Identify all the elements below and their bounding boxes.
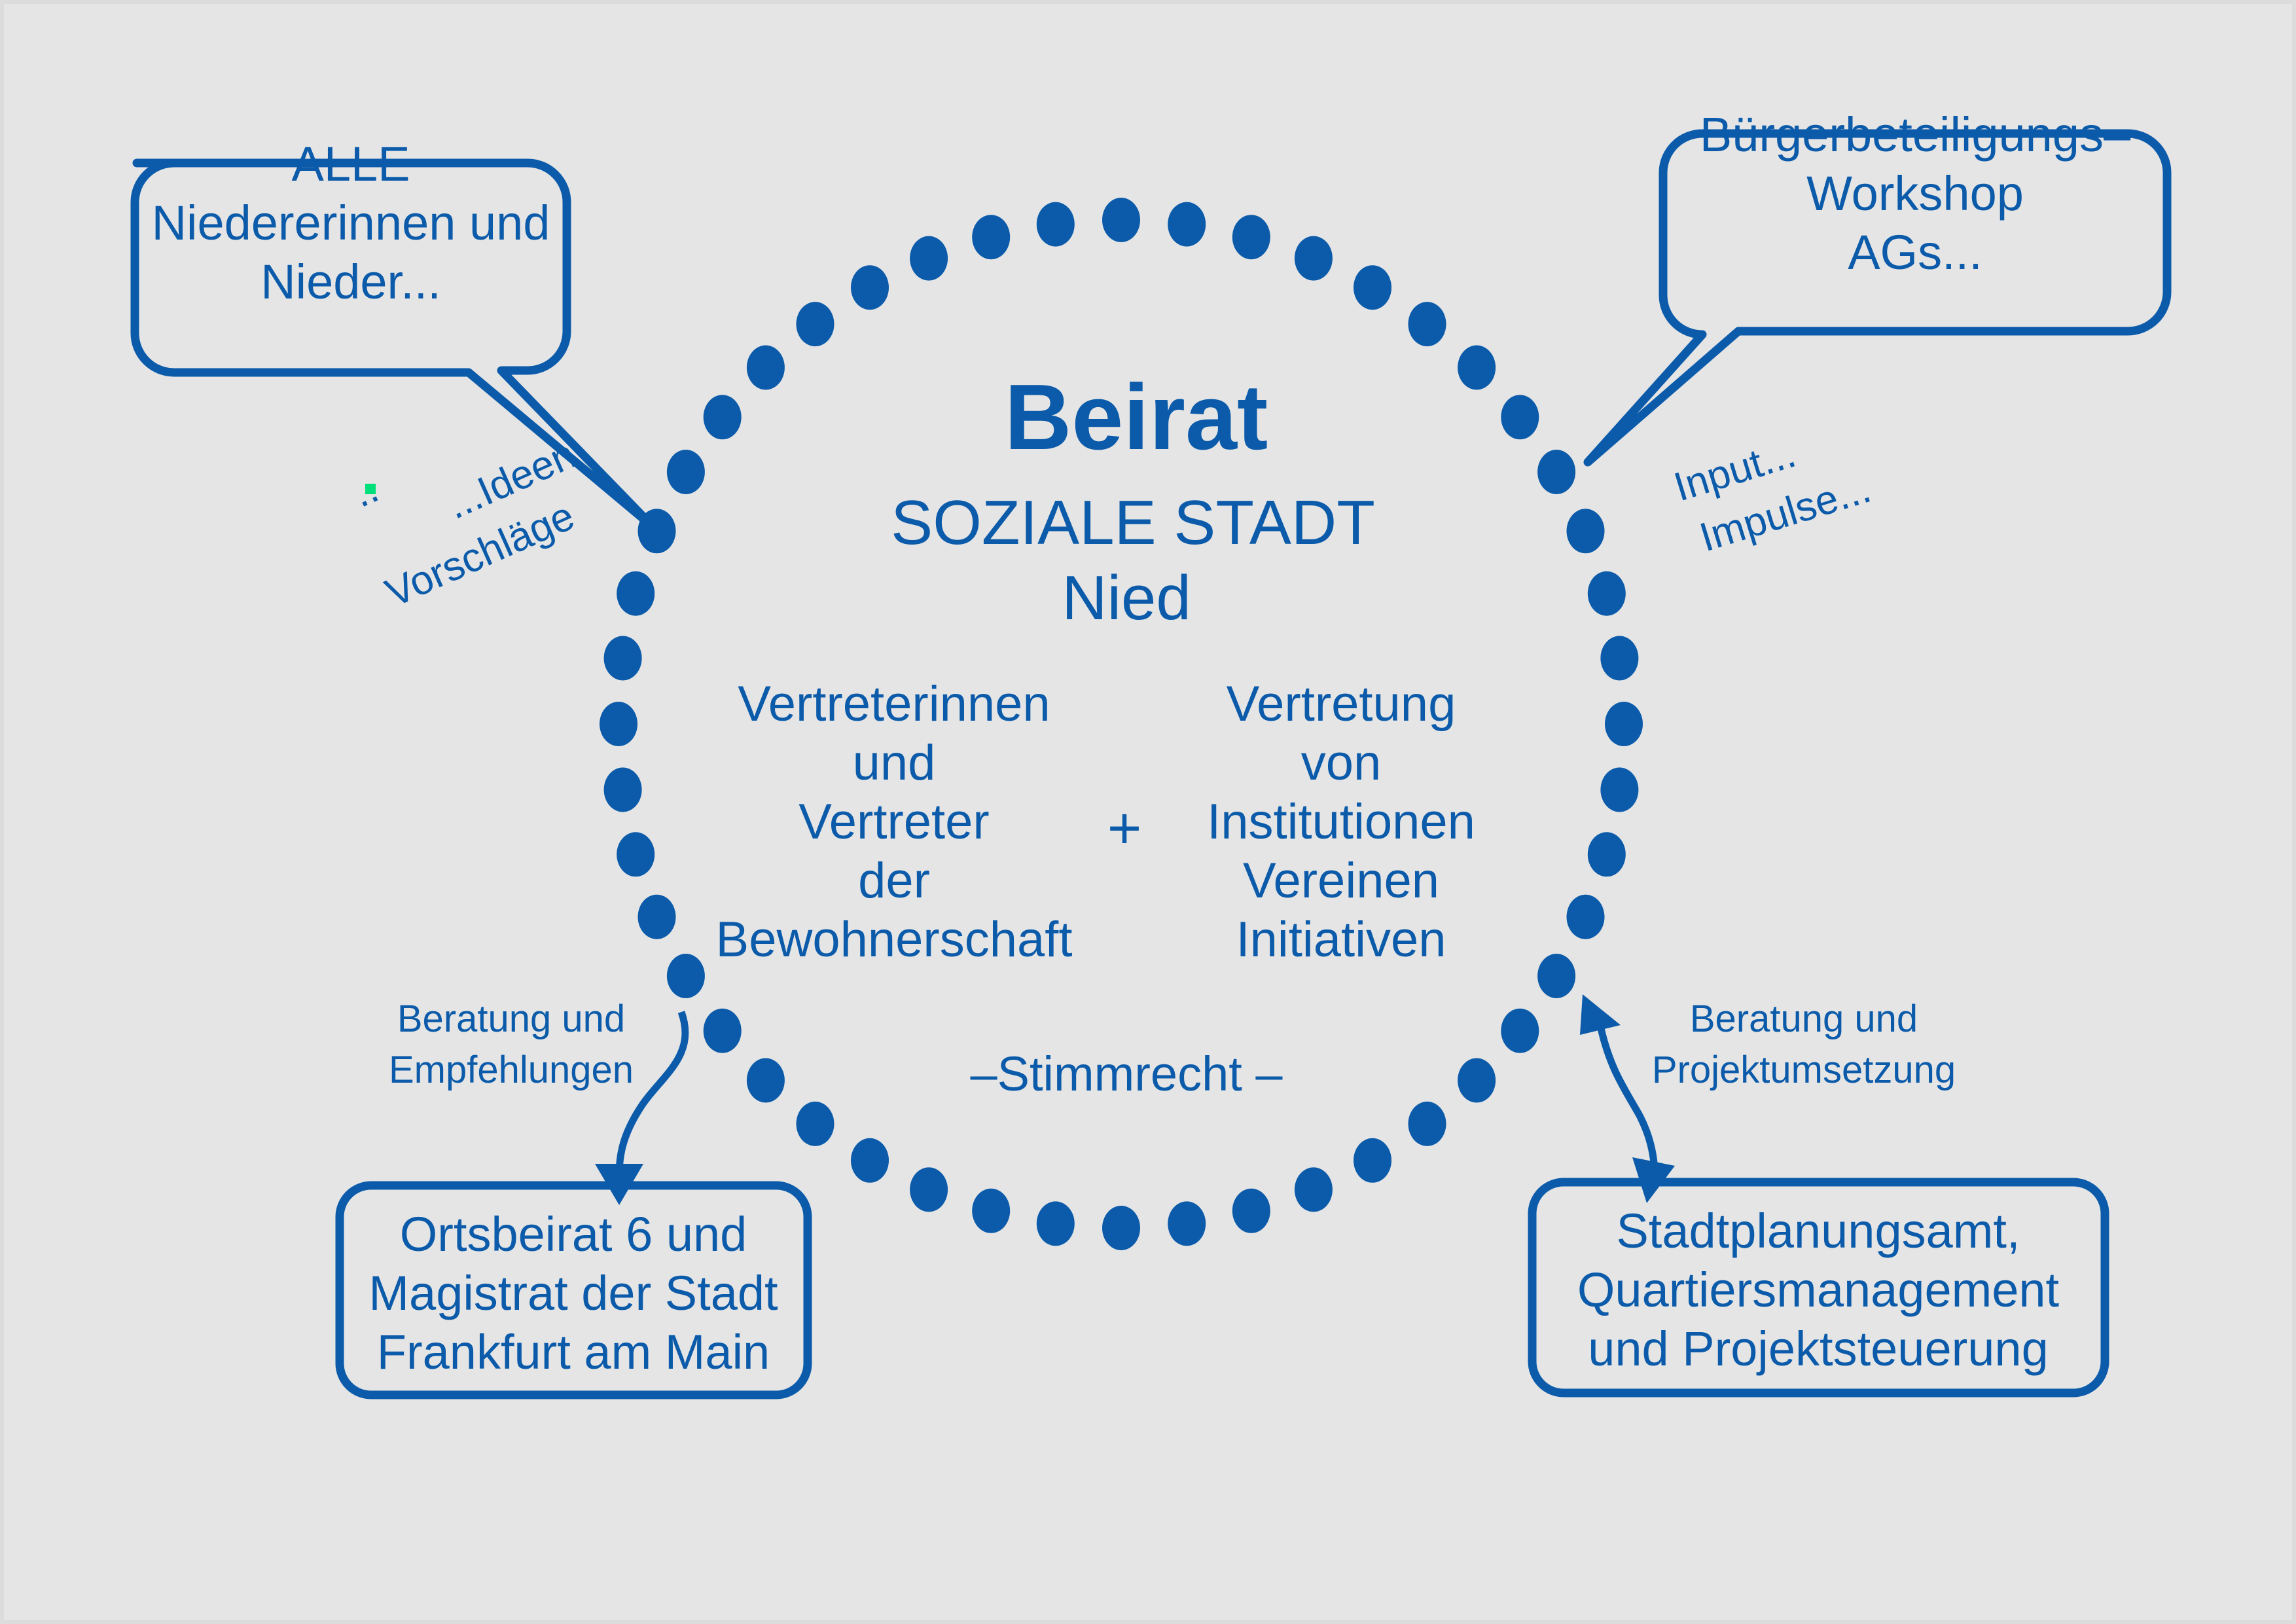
ring-dot	[1102, 1206, 1140, 1250]
ring-dot	[1588, 832, 1626, 876]
bubble-top-left-line3: Nieder...	[260, 255, 441, 309]
ring-dot	[972, 215, 1010, 259]
annotation-left-ellipsis: ..	[346, 466, 386, 516]
ring-dot	[667, 954, 705, 998]
ring-dot	[910, 1167, 948, 1212]
box-ortsbeirat-line2: Magistrat der Stadt	[368, 1266, 778, 1320]
annotation-bottom-right-line2: Projektumsetzung	[1652, 1049, 1956, 1091]
left-column-line4: der	[858, 853, 930, 909]
speech-bubble-top-right[interactable]: Bürgerbeteiligungs– Workshop AGs...	[1588, 107, 2167, 462]
ring-dot	[972, 1189, 1010, 1233]
ring-dot	[797, 1102, 834, 1146]
center-right-column: Vertretung von Institutionen Vereinen In…	[1207, 676, 1475, 967]
left-column-line2: und	[853, 735, 936, 791]
ring-dot	[1168, 202, 1206, 247]
ring-dot	[1458, 1058, 1496, 1103]
ring-dot	[604, 768, 642, 812]
ring-dot	[1232, 215, 1270, 259]
left-column-line1: Vertreterinnen	[738, 676, 1050, 732]
ring-dot	[1408, 1102, 1446, 1146]
ring-dot	[1354, 265, 1391, 310]
diagram-svg: ALLE Niedererinnen und Nieder... Bürgerb…	[4, 4, 2296, 1624]
ring-dot	[1567, 509, 1605, 553]
bubble-top-right-line2: Workshop	[1806, 166, 2024, 221]
right-column-line1: Vertretung	[1227, 676, 1456, 732]
arrow-beirat-to-ortsbeirat	[595, 1012, 685, 1205]
right-column-line4: Vereinen	[1243, 853, 1439, 909]
ring-dot	[1408, 302, 1446, 346]
center-title-block: Beirat SOZIALE STADT Nied	[891, 365, 1375, 633]
ring-dot	[667, 450, 705, 494]
annotation-bottom-left: Beratung und Empfehlungen	[389, 998, 634, 1091]
ring-dot	[1037, 1201, 1075, 1246]
ring-dot	[1600, 636, 1638, 681]
ring-dot	[851, 1138, 889, 1183]
annotation-bottom-right: Beratung und Projektumsetzung	[1652, 998, 1956, 1091]
plus-operator: +	[1107, 796, 1142, 861]
center-subtitle-line1: SOZIALE STADT	[891, 488, 1375, 558]
box-stadtplanungsamt-line2: Quartiersmanagement	[1577, 1263, 2060, 1317]
annotation-right-diagonal: Input... Impulse...	[1669, 412, 1876, 563]
annotation-left-diagonal: ...Ideen Vorschläge	[357, 431, 605, 616]
ring-dot	[704, 1009, 742, 1053]
page-title: Beirat	[1005, 365, 1268, 469]
ring-dot	[638, 895, 676, 939]
ring-dot	[1588, 571, 1626, 616]
ring-dot	[1168, 1201, 1206, 1246]
annotation-bottom-left-line1: Beratung und	[397, 998, 625, 1040]
ring-dot	[704, 395, 742, 439]
ring-dot	[1567, 895, 1605, 939]
stimmrecht-note: –Stimmrecht –	[970, 1047, 1283, 1101]
bubble-top-left-line2: Niedererinnen und	[152, 196, 550, 250]
ring-dot	[1458, 346, 1496, 390]
ring-dot	[1232, 1189, 1270, 1233]
ring-dot	[747, 346, 785, 390]
box-stadtplanungsamt-line3: und Projektsteuerung	[1588, 1322, 2048, 1376]
box-ortsbeirat-line1: Ortsbeirat 6 und	[400, 1207, 747, 1261]
ring-dot	[1605, 702, 1643, 746]
ring-dot	[617, 832, 655, 876]
annotation-bottom-left-line2: Empfehlungen	[389, 1049, 634, 1091]
center-subtitle-line2: Nied	[1062, 563, 1191, 633]
box-stadtplanungsamt-line1: Stadtplanungsamt,	[1616, 1204, 2020, 1258]
box-ortsbeirat[interactable]: Ortsbeirat 6 und Magistrat der Stadt Fra…	[340, 1185, 808, 1395]
ring-dot	[617, 571, 655, 616]
box-stadtplanungsamt[interactable]: Stadtplanungsamt, Quartiersmanagement un…	[1532, 1182, 2105, 1393]
bubble-top-right-line1: Bürgerbeteiligungs–	[1700, 107, 2131, 162]
ring-dot	[851, 265, 889, 310]
center-left-column: Vertreterinnen und Vertreter der Bewohne…	[716, 676, 1073, 967]
double-arrow-beirat-stadtplanungsamt	[1580, 994, 1675, 1203]
left-column-line5: Bewohnerschaft	[716, 912, 1073, 967]
ring-dot	[1501, 395, 1539, 439]
right-column-line3: Institutionen	[1207, 794, 1475, 850]
ring-dot	[1102, 198, 1140, 242]
annotation-bottom-right-line1: Beratung und	[1690, 998, 1918, 1040]
ring-dot	[1295, 1167, 1333, 1212]
box-ortsbeirat-line3: Frankfurt am Main	[377, 1325, 770, 1379]
ring-dot	[1537, 954, 1575, 998]
right-column-line5: Initiativen	[1236, 912, 1446, 967]
ring-dot	[1295, 236, 1333, 281]
ring-dot	[1037, 202, 1075, 247]
ring-dot	[604, 636, 642, 681]
ring-dot	[797, 302, 834, 346]
right-column-line2: von	[1301, 735, 1382, 791]
left-column-line3: Vertreter	[798, 794, 989, 850]
ring-dot	[747, 1058, 785, 1103]
ring-dot	[600, 702, 637, 746]
ring-dot	[1537, 450, 1575, 494]
ring-dot	[1600, 768, 1638, 812]
diagram-canvas: ALLE Niedererinnen und Nieder... Bürgerb…	[0, 0, 2296, 1624]
ring-dot	[1354, 1138, 1391, 1183]
ring-dot	[910, 236, 948, 281]
bubble-top-left-line1: ALLE	[291, 137, 410, 191]
ring-dot	[1501, 1009, 1539, 1053]
bubble-top-right-line3: AGs...	[1848, 225, 1982, 280]
